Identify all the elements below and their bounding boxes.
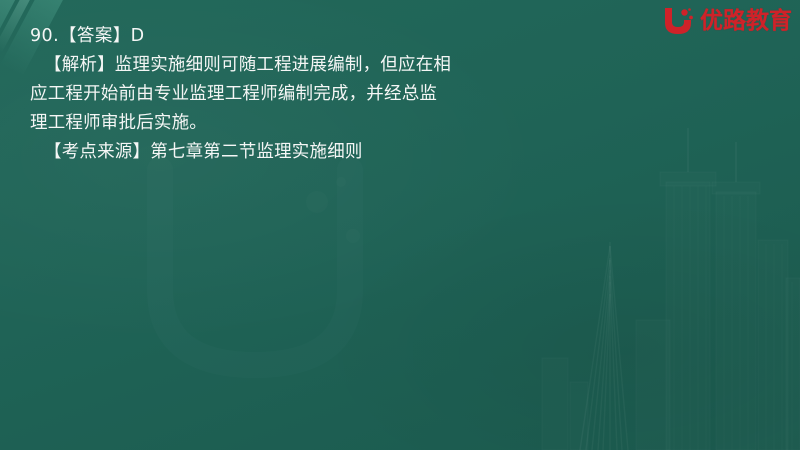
brand-logo: 优路教育 xyxy=(661,4,792,38)
analysis-line-2: 应工程开始前由专业监理工程师编制完成，并经总监 xyxy=(30,80,610,109)
slide-canvas: 优路教育 90.【答案】D 【解析】监理实施细则可随工程进展编制，但应在相 应工… xyxy=(0,0,800,450)
analysis-line-1: 【解析】监理实施细则可随工程进展编制，但应在相 xyxy=(30,51,610,80)
city-skyline-watermark xyxy=(540,120,800,450)
stripe-2 xyxy=(0,0,10,76)
slide-text-content: 90.【答案】D 【解析】监理实施细则可随工程进展编制，但应在相 应工程开始前由… xyxy=(30,22,610,167)
brand-letter-watermark xyxy=(105,150,435,400)
analysis-line-3: 理工程师审批后实施。 xyxy=(30,109,610,138)
youlu-u-mark-icon xyxy=(661,6,695,36)
brand-logo-text: 优路教育 xyxy=(700,10,792,33)
stripe-3 xyxy=(0,0,34,76)
source-line: 【考点来源】第七章第二节监理实施细则 xyxy=(30,138,610,167)
answer-line: 90.【答案】D xyxy=(30,22,610,51)
